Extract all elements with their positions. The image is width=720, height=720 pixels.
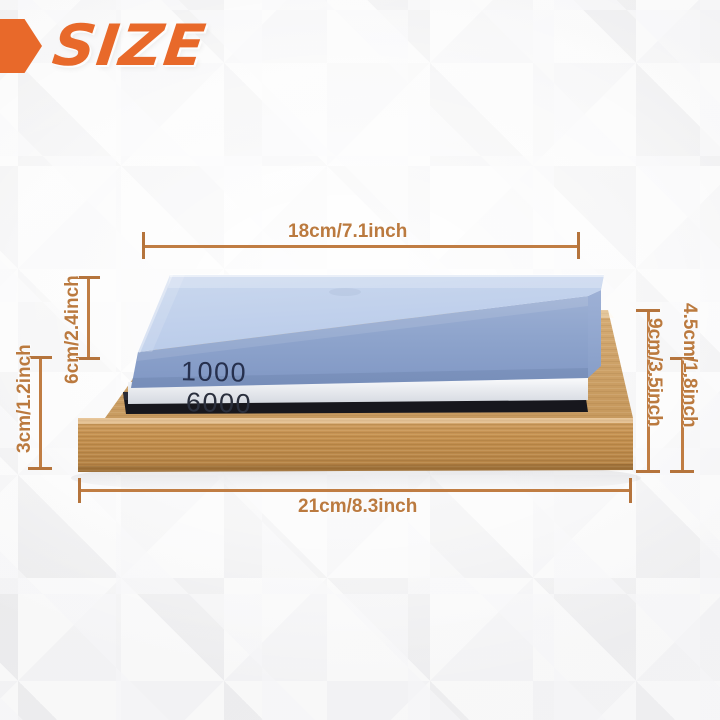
dimension-line-horizontal (78, 489, 632, 492)
dimension-label-stone-width: 9cm/3.5inch (643, 318, 665, 427)
dimension-line-horizontal (142, 245, 579, 248)
dimension-cap-right (577, 232, 580, 259)
dimension-line-vertical (39, 356, 42, 470)
dimension-cap-bottom (670, 470, 694, 473)
dimension-label-base-length: 21cm/8.3inch (298, 496, 417, 518)
stone-top-edge-highlight (170, 274, 604, 277)
product-illustration (0, 0, 720, 720)
dimension-cap-left (78, 478, 81, 503)
dimension-cap-top (636, 309, 660, 312)
dimension-cap-bottom (636, 470, 660, 473)
dimension-label-base-height: 3cm/1.2inch (14, 344, 36, 453)
grit-label-1000: 1000 (181, 356, 248, 388)
dimension-cap-left (142, 232, 145, 259)
dimension-line-vertical (87, 276, 90, 360)
dimension-label-base-width: 4.5cm/1.8inch (678, 303, 700, 428)
dimension-label-stone-height: 6cm/2.4inch (62, 275, 84, 384)
dimension-cap-bottom (28, 467, 52, 470)
bamboo-base-front-face (78, 418, 633, 472)
dimension-cap-right (629, 478, 632, 503)
stone-right-face (588, 290, 601, 378)
dimension-label-stone-length: 18cm/7.1inch (288, 221, 407, 243)
infographic-canvas: SIZE (0, 0, 720, 720)
grit-label-6000: 6000 (186, 387, 253, 414)
